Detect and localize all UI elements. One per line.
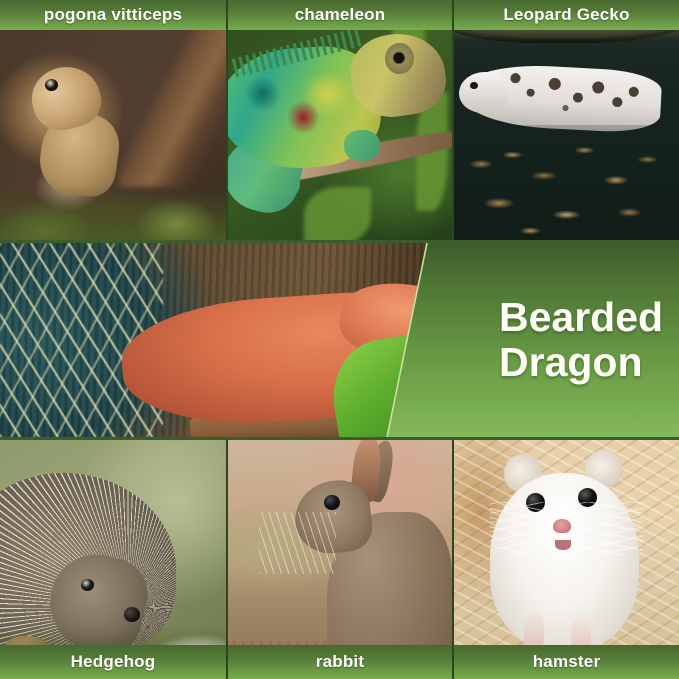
- label-band-pogona: pogona vitticeps: [0, 0, 226, 30]
- tile-hamster[interactable]: hamster: [454, 440, 679, 679]
- hamster-photo: [454, 440, 679, 679]
- hero-title-line2: Dragon: [499, 339, 643, 385]
- label-band-gecko: Leopard Gecko: [454, 0, 679, 30]
- hedgehog-photo: [0, 440, 226, 679]
- tile-label-hedgehog: Hedgehog: [71, 652, 156, 672]
- hero-title-line1: Bearded: [499, 294, 663, 340]
- tile-bearded-dragon-hero[interactable]: Bearded Dragon: [0, 243, 679, 437]
- hero-title: Bearded Dragon: [499, 295, 663, 385]
- leopard-gecko-photo: [454, 0, 679, 240]
- hamster-nose-shape: [553, 519, 571, 533]
- tile-pogona-vitticeps[interactable]: pogona vitticeps: [0, 0, 226, 240]
- tile-label-pogona: pogona vitticeps: [44, 5, 182, 25]
- tile-label-hamster: hamster: [533, 652, 601, 672]
- panther-chameleon-photo: [228, 0, 452, 240]
- label-band-chameleon: chameleon: [228, 0, 452, 30]
- rabbit-whiskers: [259, 512, 335, 574]
- divider-vertical: [226, 440, 228, 679]
- dragon-eye-shape: [45, 79, 57, 91]
- divider-vertical: [452, 440, 454, 679]
- gecko-eye-shape: [470, 82, 478, 90]
- hedgehog-eye-shape: [81, 579, 94, 591]
- chameleon-foot-shape: [264, 168, 300, 199]
- tile-label-rabbit: rabbit: [316, 652, 364, 672]
- tile-leopard-gecko[interactable]: Leopard Gecko: [454, 0, 679, 240]
- divider-vertical: [452, 0, 454, 243]
- divider-vertical: [226, 0, 228, 243]
- divider-horizontal: [0, 437, 679, 440]
- label-band-rabbit: rabbit: [228, 645, 452, 679]
- wood-chip-substrate: [454, 125, 679, 240]
- leaf-decor: [304, 187, 371, 240]
- divider-horizontal: [0, 240, 679, 243]
- tile-rabbit[interactable]: rabbit: [228, 440, 452, 679]
- tile-chameleon[interactable]: chameleon: [228, 0, 452, 240]
- label-band-hamster: hamster: [454, 645, 679, 679]
- hamster-body-shape: [490, 473, 639, 650]
- animal-collage: pogona vitticeps chameleon: [0, 0, 679, 679]
- tile-hedgehog[interactable]: Hedgehog: [0, 440, 226, 679]
- juvenile-bearded-dragon-photo: [0, 0, 226, 240]
- hamster-mouth-shape: [555, 540, 571, 550]
- moss-ground: [0, 187, 226, 240]
- gecko-head-shape: [459, 72, 509, 113]
- hedgehog-nose-shape: [124, 607, 140, 621]
- chameleon-eye-shape: [385, 43, 414, 74]
- tile-label-gecko: Leopard Gecko: [503, 5, 629, 25]
- label-band-hedgehog: Hedgehog: [0, 645, 226, 679]
- rabbit-photo: [228, 440, 452, 679]
- chameleon-foot-shape: [344, 130, 380, 161]
- tile-label-chameleon: chameleon: [295, 5, 386, 25]
